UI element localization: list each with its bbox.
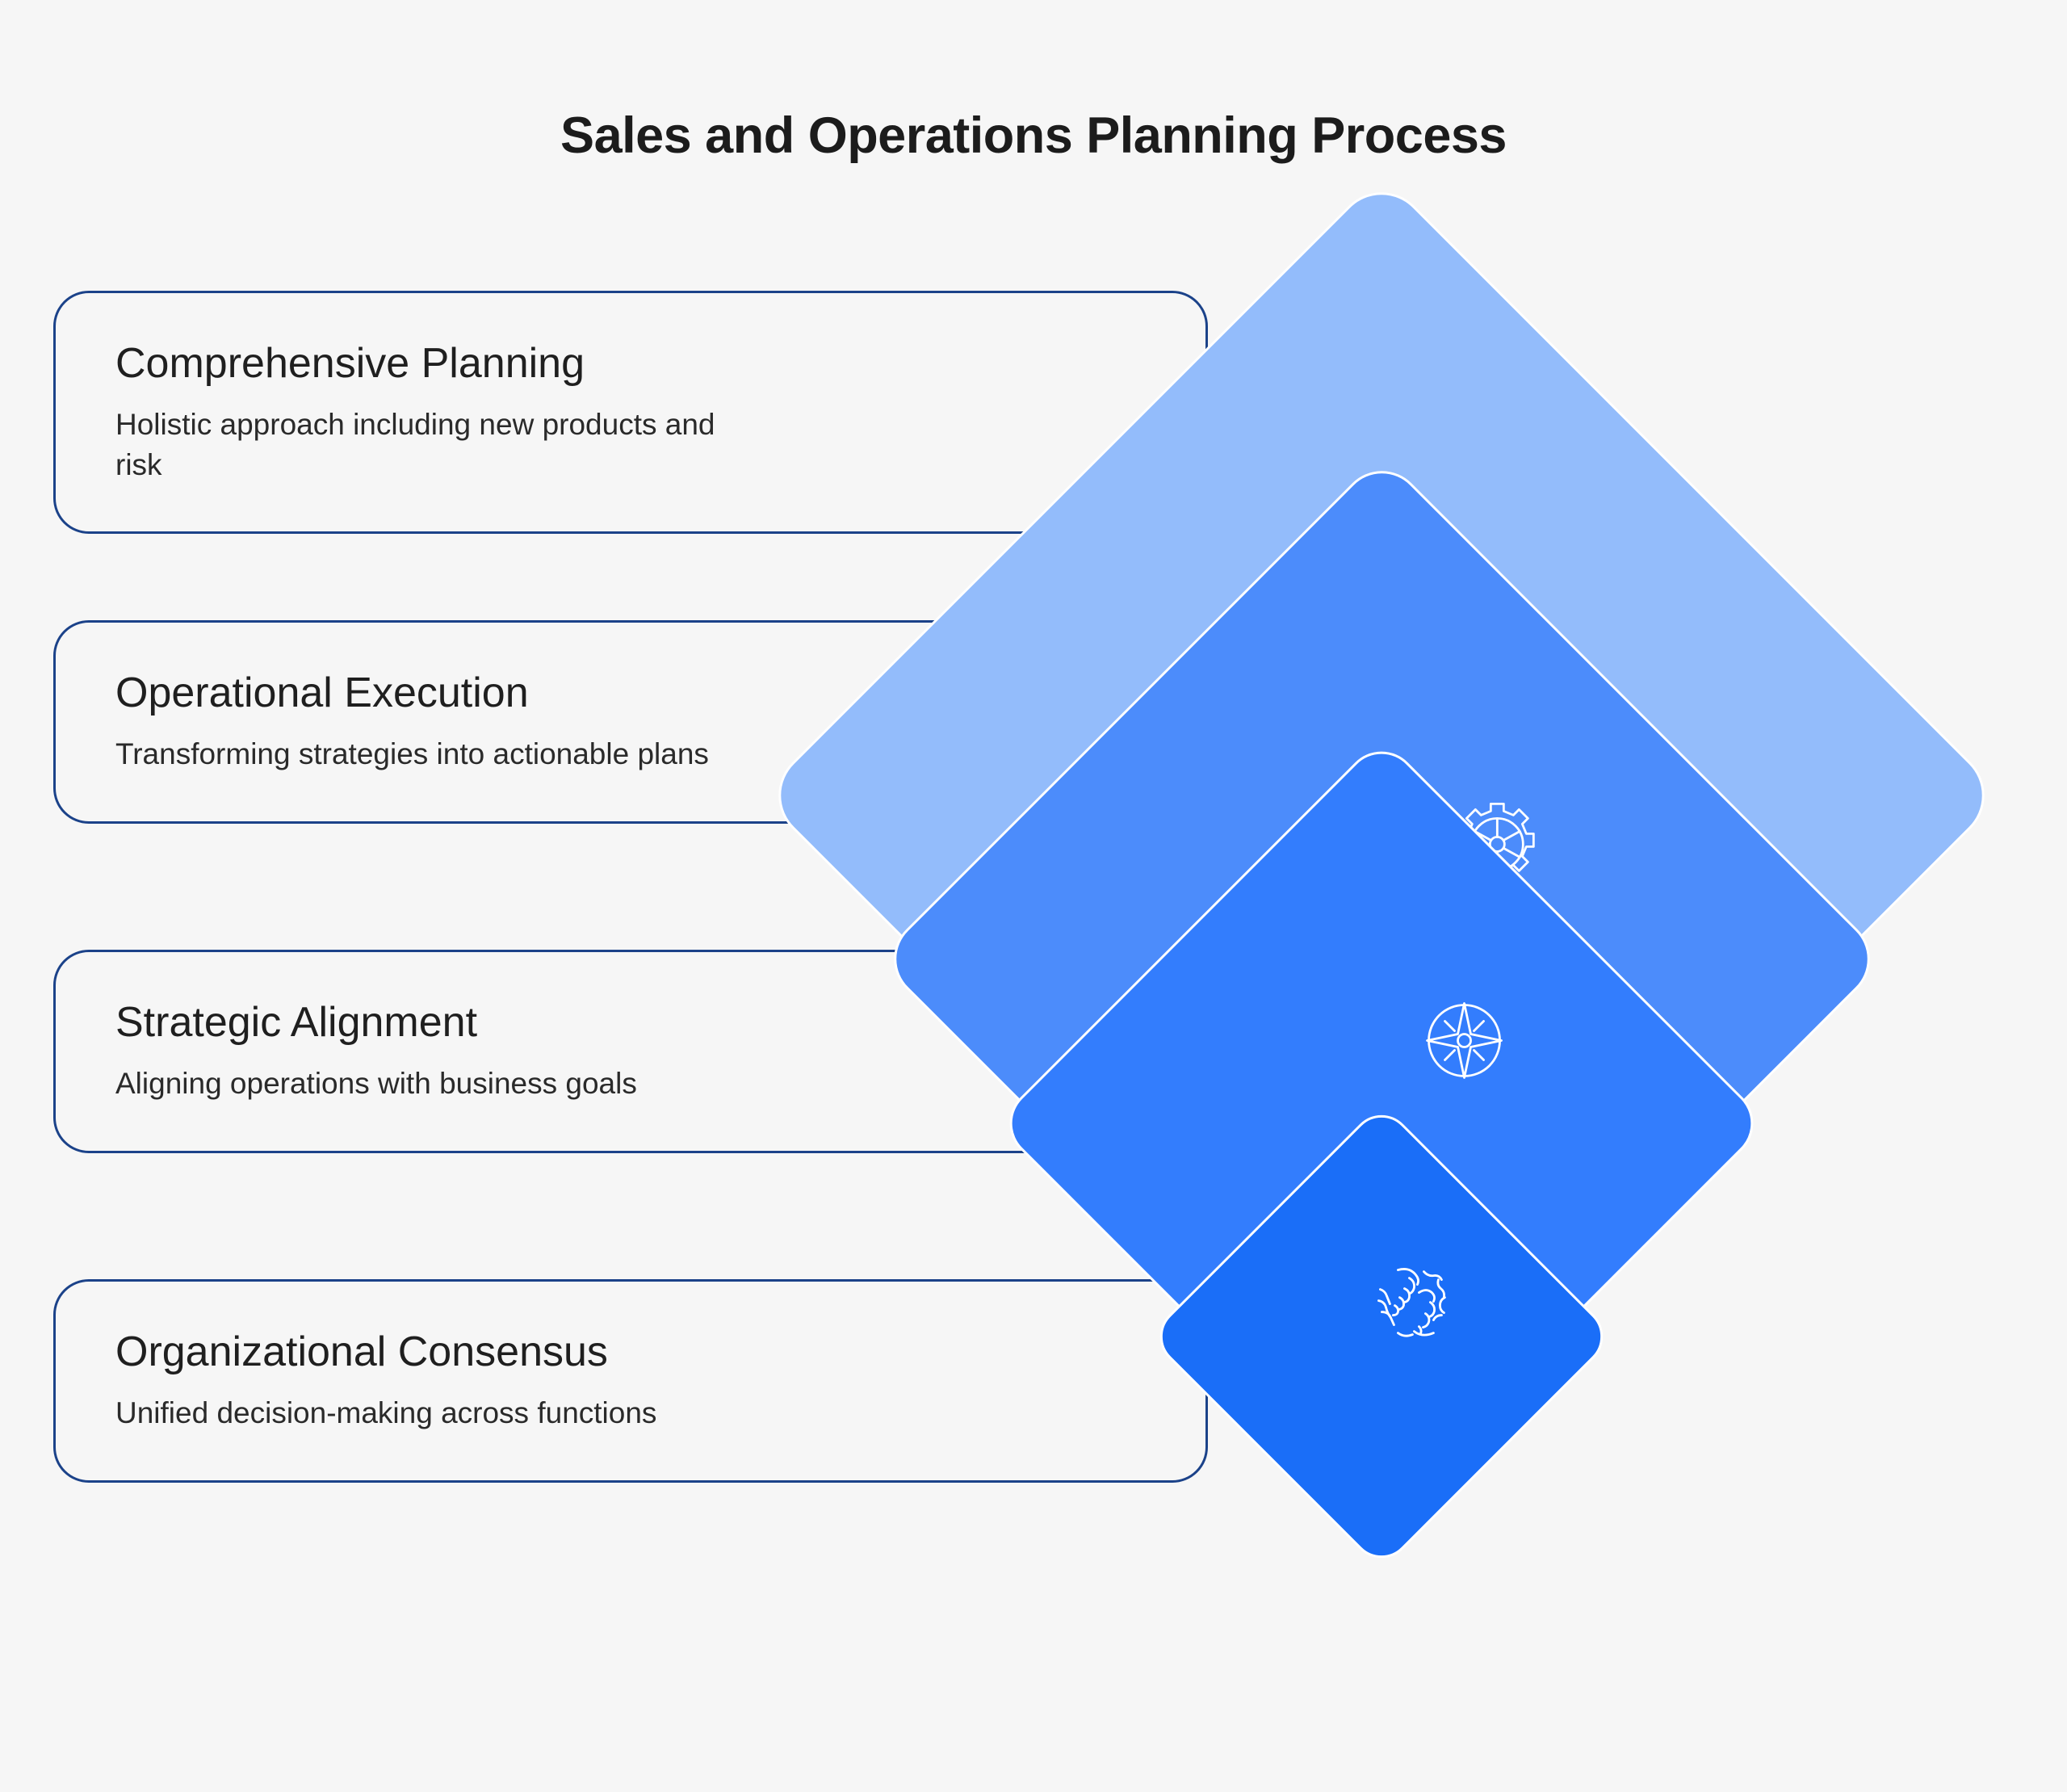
card-comprehensive-planning[interactable]: Comprehensive Planning Holistic approach… bbox=[53, 291, 1208, 534]
handshake-icon bbox=[1367, 1254, 1464, 1351]
card-description: Transforming strategies into actionable … bbox=[115, 734, 729, 774]
card-description: Holistic approach including new products… bbox=[115, 405, 729, 485]
card-description: Unified decision-making across functions bbox=[115, 1393, 729, 1433]
diamond-stack bbox=[0, 0, 2067, 1792]
card-organizational-consensus[interactable]: Organizational Consensus Unified decisio… bbox=[53, 1279, 1208, 1483]
card-title: Comprehensive Planning bbox=[115, 340, 1205, 387]
compass-rose-icon bbox=[1416, 992, 1513, 1089]
page-title: Sales and Operations Planning Process bbox=[0, 107, 2067, 165]
card-title: Organizational Consensus bbox=[115, 1328, 1205, 1375]
card-description: Aligning operations with business goals bbox=[115, 1064, 729, 1104]
